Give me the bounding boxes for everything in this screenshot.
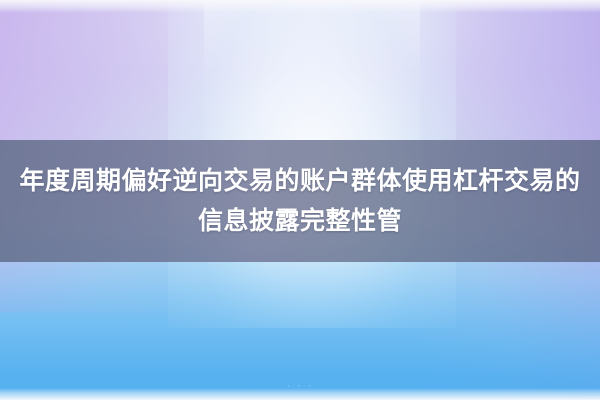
headline-band: 年度周期偏好逆向交易的账户群体使用杠杆交易的 信息披露完整性管 (0, 140, 600, 262)
background-bottom-fade-strip (0, 388, 600, 400)
background-top-fade-strip (0, 0, 600, 13)
headline-line-1: 年度周期偏好逆向交易的账户群体使用杠杆交易的 (19, 161, 580, 201)
banner-image: · · · 年度周期偏好逆向交易的账户群体使用杠杆交易的 信息披露完整性管 (0, 0, 600, 400)
headline-line-2: 信息披露完整性管 (198, 201, 402, 241)
